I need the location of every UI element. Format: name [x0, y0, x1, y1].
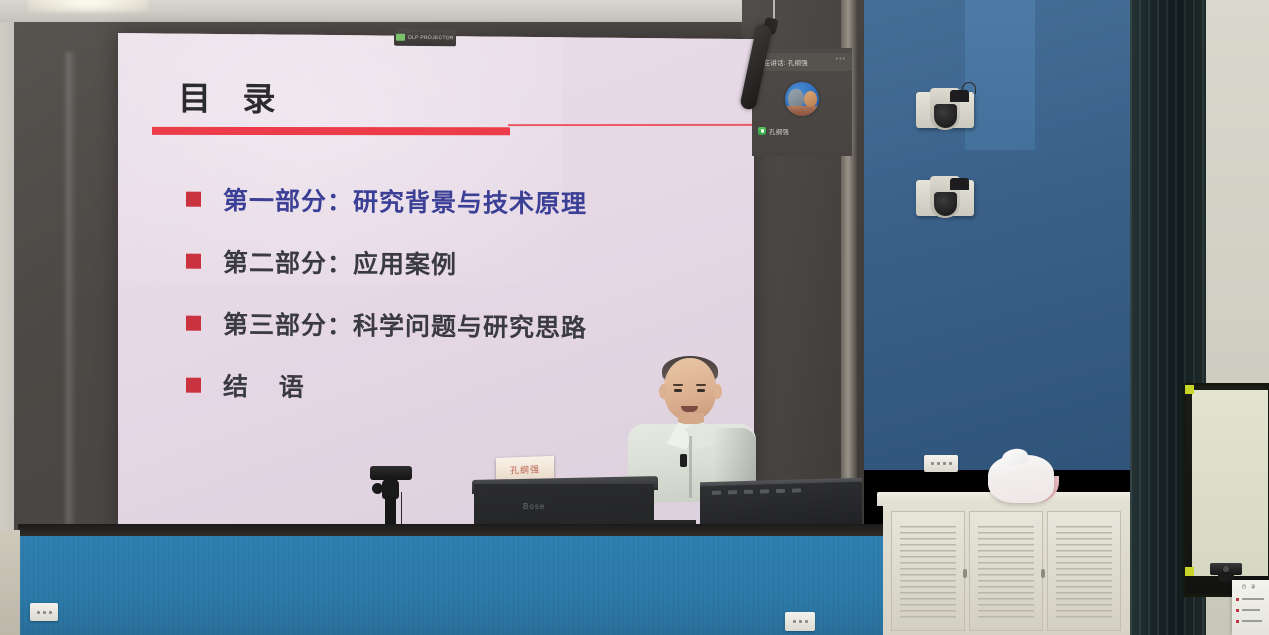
desk-button[interactable]: [776, 489, 785, 493]
cabinet-handle[interactable]: [1041, 569, 1045, 578]
lower-blue-wall: [18, 536, 898, 635]
display-corner-marker: [1185, 385, 1194, 394]
printed-handout: 目 录: [1232, 580, 1269, 635]
cabinet-handle[interactable]: [963, 569, 967, 578]
ceiling-light: [28, 0, 148, 12]
outlet-hole: [793, 620, 796, 623]
toc-item-1[interactable]: 第一部分：研究背景与技术原理: [186, 168, 726, 235]
ptz-camera-upper: [916, 88, 974, 133]
desk-button[interactable]: [744, 490, 753, 494]
outlet-hole: [49, 611, 52, 614]
presenter-shirt-placket: [689, 436, 692, 498]
outlet-hole: [943, 462, 946, 465]
power-led-icon: [396, 34, 405, 41]
outlet-hole: [43, 611, 46, 614]
camera-top-cap: [950, 178, 969, 190]
secondary-display-screen: [1192, 390, 1268, 576]
ptz-camera-lower: [916, 176, 974, 221]
square-bullet-icon: [186, 191, 201, 206]
projector-label: DLP PROJECTOR: [394, 29, 456, 47]
more-options-icon[interactable]: •••: [836, 56, 846, 63]
cabinet-door-center[interactable]: [969, 511, 1043, 631]
title-rule-thick: [152, 127, 510, 135]
participant-avatar: [785, 82, 819, 116]
presenter-eye-right: [697, 389, 705, 392]
wall-outlet-right[interactable]: [924, 455, 958, 472]
outlet-holes: [927, 458, 955, 469]
participant-name: 孔纲强: [769, 126, 789, 136]
desk-button[interactable]: [712, 491, 721, 495]
bezel-sheen: [66, 52, 76, 572]
participant-row: 孔纲强: [758, 126, 789, 136]
microphone-icon: [758, 127, 766, 135]
lavalier-microphone-icon: [680, 454, 687, 467]
toc-item-3[interactable]: 第三部分：科学问题与研究思路: [186, 292, 726, 359]
avatar-cat-ear: [790, 92, 797, 99]
white-plastic-bag: [988, 455, 1054, 503]
handout-bullet: [1236, 620, 1239, 623]
cabinet-door-right[interactable]: [1047, 511, 1121, 631]
toc-item-3-label: 第三部分：科学问题与研究思路: [223, 305, 587, 344]
toc-item-1-label: 第一部分：研究背景与技术原理: [223, 181, 587, 220]
camera-lens-icon: [934, 192, 957, 216]
presenter-eye-left: [674, 389, 682, 392]
projector-label-text: DLP PROJECTOR: [408, 34, 454, 40]
presenter-ear-left: [659, 384, 668, 399]
storage-cabinet[interactable]: [883, 503, 1153, 635]
display-corner-marker: [1185, 567, 1194, 576]
presenter-brow-left: [673, 384, 683, 386]
outlet-hole: [799, 620, 802, 623]
wall-outlet-center[interactable]: [785, 612, 815, 631]
outlet-hole: [949, 462, 952, 465]
handout-line: [1242, 620, 1262, 622]
square-bullet-icon: [186, 377, 201, 392]
outlet-holes: [788, 615, 812, 628]
avatar-mouse-figure: [804, 91, 817, 107]
toc-item-2-label: 第二部分：应用案例: [223, 243, 457, 281]
video-conference-panel[interactable]: 正在讲话: 孔纲强 ••• 孔纲强: [752, 48, 852, 156]
presenter-brow-right: [696, 384, 706, 386]
outlet-hole: [931, 462, 934, 465]
outlet-hole: [37, 611, 40, 614]
outlet-holes: [33, 606, 55, 618]
lower-left-wall: [0, 530, 20, 635]
desk-button[interactable]: [760, 489, 769, 493]
toc-item-2[interactable]: 第二部分：应用案例: [186, 230, 726, 297]
nameplate-text: 孔纲强: [510, 462, 540, 476]
podium-brand-logo: Bose: [523, 502, 545, 511]
tripod-pan-knob[interactable]: [372, 483, 383, 494]
camera-top-cap: [950, 90, 969, 102]
outlet-hole: [937, 462, 940, 465]
cabinet-door-left[interactable]: [891, 511, 965, 631]
slide-title: 目 录: [178, 72, 286, 121]
handout-line: [1242, 609, 1260, 611]
right-wall-notch: [965, 0, 1035, 150]
desk-button[interactable]: [728, 490, 737, 494]
presenter-ear-right: [713, 384, 722, 399]
title-rule-thin: [508, 124, 754, 126]
conference-room-scene: 目 录 第一部分：研究背景与技术原理 第二部分：应用案例 第三部分：科学问题与研…: [0, 0, 1269, 635]
handout-line: [1242, 598, 1264, 600]
outlet-hole: [805, 620, 808, 623]
avatar-foreground: [785, 106, 819, 116]
square-bullet-icon: [186, 315, 201, 330]
handout-title: 目 录: [1242, 584, 1257, 590]
handout-bullet: [1236, 609, 1239, 612]
camera-lens-icon: [934, 104, 957, 128]
mounted-phone-icon: [370, 466, 412, 480]
desk-button[interactable]: [792, 488, 801, 492]
square-bullet-icon: [186, 253, 201, 268]
wall-outlet-left[interactable]: [30, 603, 58, 621]
handout-bullet: [1236, 598, 1239, 601]
toc-item-4-label: 结 语: [223, 367, 315, 404]
